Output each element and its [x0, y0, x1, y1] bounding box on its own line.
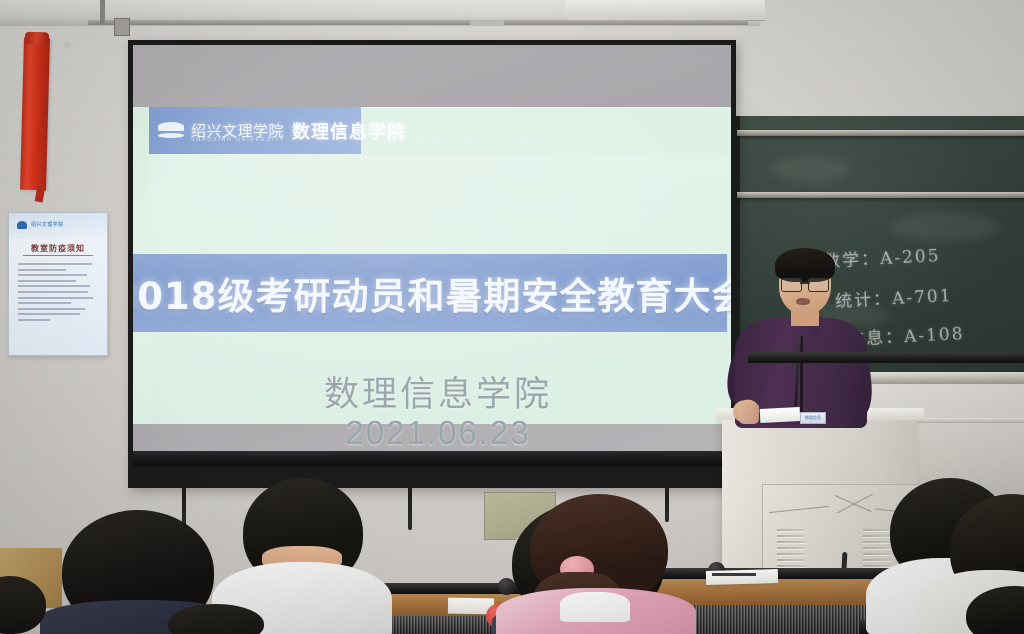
slide-subtitle: 数理信息学院: [149, 366, 727, 417]
slide-university-name-en: SHAOXING UNIVERSITY: [191, 137, 285, 143]
desk-knob: [498, 578, 515, 595]
projection-screen: 绍兴文理学院 数理信息学院 SHAOXING UNIVERSITY SCHOOL…: [128, 40, 736, 488]
podium-paper-sheet: [760, 407, 801, 423]
slide-date: 2021.06.23: [149, 414, 727, 452]
conduit-junction-box: [114, 18, 130, 36]
paper-cup: [739, 404, 759, 424]
chalk-smear: [890, 212, 1000, 242]
desk-paper-text-line: [712, 573, 756, 576]
slide-logo-band: 绍兴文理学院 数理信息学院 SHAOXING UNIVERSITY SCHOOL…: [149, 107, 361, 154]
desk-back-rail: [748, 352, 1024, 363]
chalkboard-rail-lower: [737, 192, 1024, 198]
lectern-scratch: [769, 506, 829, 513]
screen-strap: [665, 488, 669, 522]
poster-logo-icon: [17, 221, 27, 229]
wall-notice-poster: 绍兴文理学院 教室防疫须知: [8, 212, 108, 356]
presenter-mouth: [796, 298, 810, 305]
desk-paper-sheet: [706, 569, 778, 585]
poster-brand-label: 绍兴文理学院: [31, 221, 63, 228]
poster-title: 教室防疫须知: [9, 243, 107, 254]
chalkboard-rail-upper: [737, 130, 1024, 136]
glasses-icon: [781, 278, 829, 290]
student-collar: [560, 592, 630, 622]
wall-mark: [64, 43, 71, 47]
conduit-drop: [100, 0, 105, 24]
presenter-hair: [775, 248, 835, 282]
chalk-smear: [770, 156, 850, 182]
screen-strap: [408, 488, 412, 530]
classroom-photo-scene: 绍兴文理学院 教室防疫须知 数学：A-205 统计：A-701 信息：A-108: [0, 0, 1024, 634]
presentation-slide: 绍兴文理学院 数理信息学院 SHAOXING UNIVERSITY SCHOOL…: [133, 107, 731, 424]
poster-body-text: [18, 263, 98, 325]
poster-divider: [23, 255, 93, 256]
slide-title-band: 2018级考研动员和暑期安全教育大会: [133, 254, 727, 332]
slide-title: 2018级考研动员和暑期安全教育大会: [133, 266, 731, 320]
podium-name-card: 数理信息: [800, 412, 826, 424]
ceiling-fixture: [470, 20, 504, 26]
wall-conduit: [88, 20, 748, 25]
presenter-shirt-placket: [800, 336, 803, 420]
slide-content-area: 2018级考研动员和暑期安全教育大会 数理信息学院 2021.06.23: [149, 154, 727, 424]
rolled-red-banner: [20, 38, 50, 191]
slide-college-name-en: SCHOOL OF MATHEMATICS PHYSICS AND INFORM…: [379, 139, 548, 144]
wave-mountain-logo-icon: [158, 122, 184, 140]
projection-screen-surface: 绍兴文理学院 数理信息学院 SHAOXING UNIVERSITY SCHOOL…: [133, 45, 731, 466]
screen-bottom-bar: [133, 451, 731, 466]
ceiling-panel: [565, 0, 765, 21]
